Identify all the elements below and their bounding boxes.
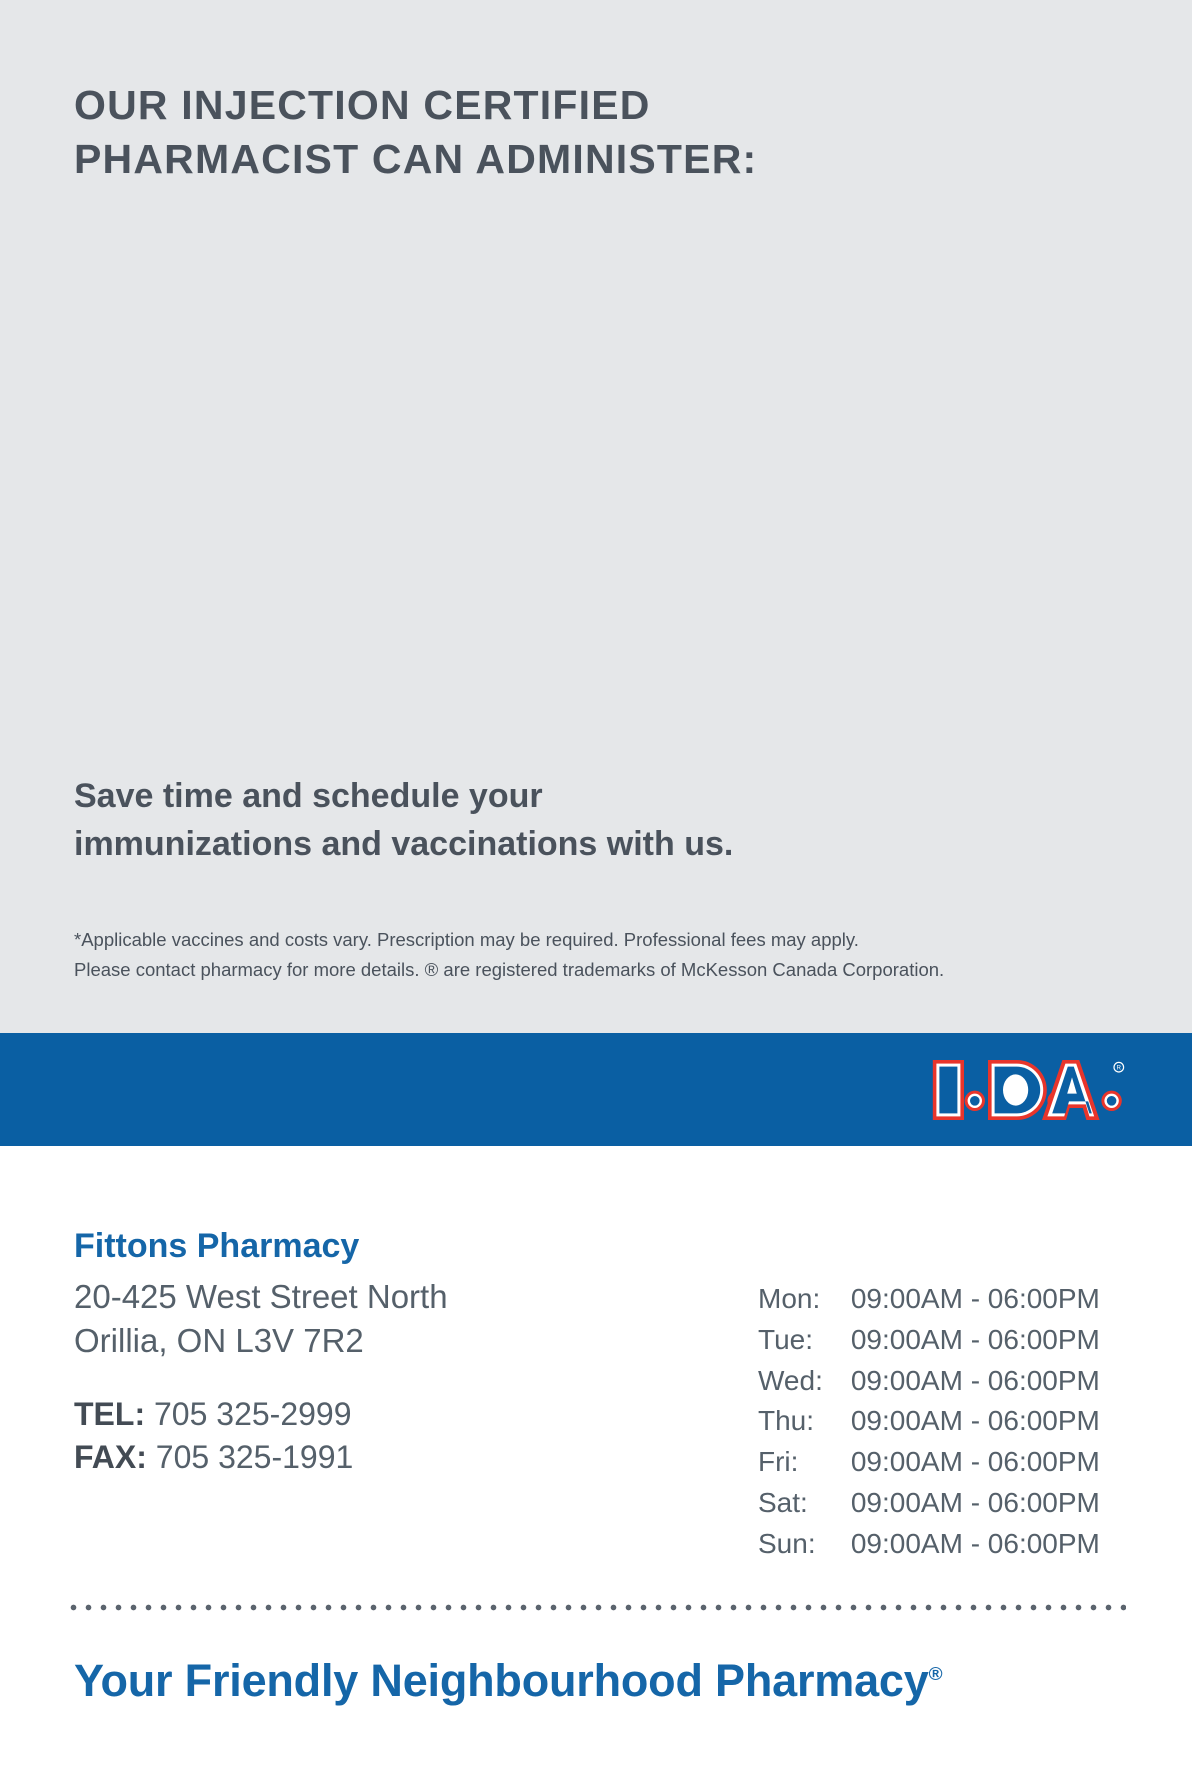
disclaimer-text: *Applicable vaccines and costs vary. Pre…	[74, 925, 944, 985]
table-row: Fri: 09:00AM - 06:00PM	[758, 1447, 1100, 1488]
address-line-1: 20-425 West Street North	[74, 1275, 448, 1319]
hours-time: 09:00AM - 06:00PM	[851, 1447, 1100, 1488]
tagline: Your Friendly Neighbourhood Pharmacy®	[74, 1655, 942, 1707]
tagline-text: Your Friendly Neighbourhood Pharmacy	[74, 1655, 929, 1706]
promo-panel: OUR INJECTION CERTIFIED PHARMACIST CAN A…	[0, 0, 1192, 1033]
telephone-value[interactable]: 705 325-2999	[154, 1396, 352, 1432]
hours-day: Wed:	[758, 1366, 851, 1407]
registered-mark: ®	[929, 1664, 943, 1685]
page-title: OUR INJECTION CERTIFIED PHARMACIST CAN A…	[74, 0, 894, 186]
store-address: 20-425 West Street North Orillia, ON L3V…	[74, 1275, 448, 1363]
table-row: Thu: 09:00AM - 06:00PM	[758, 1406, 1100, 1447]
ida-logo: R	[928, 1054, 1126, 1126]
promo-subheading: Save time and schedule your immunization…	[74, 772, 733, 869]
table-row: Wed: 09:00AM - 06:00PM	[758, 1366, 1100, 1407]
hours-time: 09:00AM - 06:00PM	[851, 1366, 1100, 1407]
fax-label: FAX:	[74, 1439, 147, 1475]
hours-time: 09:00AM - 06:00PM	[851, 1529, 1100, 1570]
fax-row: FAX: 705 325-1991	[74, 1436, 448, 1479]
hours-day: Thu:	[758, 1406, 851, 1447]
hours-day: Fri:	[758, 1447, 851, 1488]
telephone-row: TEL: 705 325-2999	[74, 1393, 448, 1436]
table-row: Sat: 09:00AM - 06:00PM	[758, 1488, 1100, 1529]
disclaimer-line-2: Please contact pharmacy for more details…	[74, 955, 944, 985]
store-details: Fittons Pharmacy 20-425 West Street Nort…	[74, 1226, 448, 1479]
store-hours-table: Mon: 09:00AM - 06:00PM Tue: 09:00AM - 06…	[758, 1284, 1100, 1570]
dotted-divider	[66, 1603, 1126, 1612]
table-row: Sun: 09:00AM - 06:00PM	[758, 1529, 1100, 1570]
store-contact: TEL: 705 325-2999 FAX: 705 325-1991	[74, 1393, 448, 1479]
disclaimer-line-1: *Applicable vaccines and costs vary. Pre…	[74, 925, 944, 955]
hours-day: Mon:	[758, 1284, 851, 1325]
headline-line-1: OUR INJECTION CERTIFIED	[74, 78, 894, 132]
table-row: Mon: 09:00AM - 06:00PM	[758, 1284, 1100, 1325]
hours-day: Sun:	[758, 1529, 851, 1570]
flyer-page: OUR INJECTION CERTIFIED PHARMACIST CAN A…	[0, 0, 1192, 1785]
address-line-2: Orillia, ON L3V 7R2	[74, 1319, 448, 1363]
hours-time: 09:00AM - 06:00PM	[851, 1325, 1100, 1366]
hours-time: 09:00AM - 06:00PM	[851, 1488, 1100, 1529]
fax-value: 705 325-1991	[156, 1439, 354, 1475]
subhead-line-1: Save time and schedule your	[74, 772, 733, 820]
telephone-label: TEL:	[74, 1396, 145, 1432]
hours-time: 09:00AM - 06:00PM	[851, 1406, 1100, 1447]
brand-band: R	[0, 1033, 1192, 1146]
hours-time: 09:00AM - 06:00PM	[851, 1284, 1100, 1325]
store-name: Fittons Pharmacy	[74, 1226, 448, 1267]
store-hours-body: Mon: 09:00AM - 06:00PM Tue: 09:00AM - 06…	[758, 1284, 1100, 1570]
svg-text:R: R	[1117, 1065, 1122, 1071]
table-row: Tue: 09:00AM - 06:00PM	[758, 1325, 1100, 1366]
subhead-line-2: immunizations and vaccinations with us.	[74, 820, 733, 868]
hours-day: Sat:	[758, 1488, 851, 1529]
hours-day: Tue:	[758, 1325, 851, 1366]
headline-line-2: PHARMACIST CAN ADMINISTER:	[74, 132, 894, 186]
